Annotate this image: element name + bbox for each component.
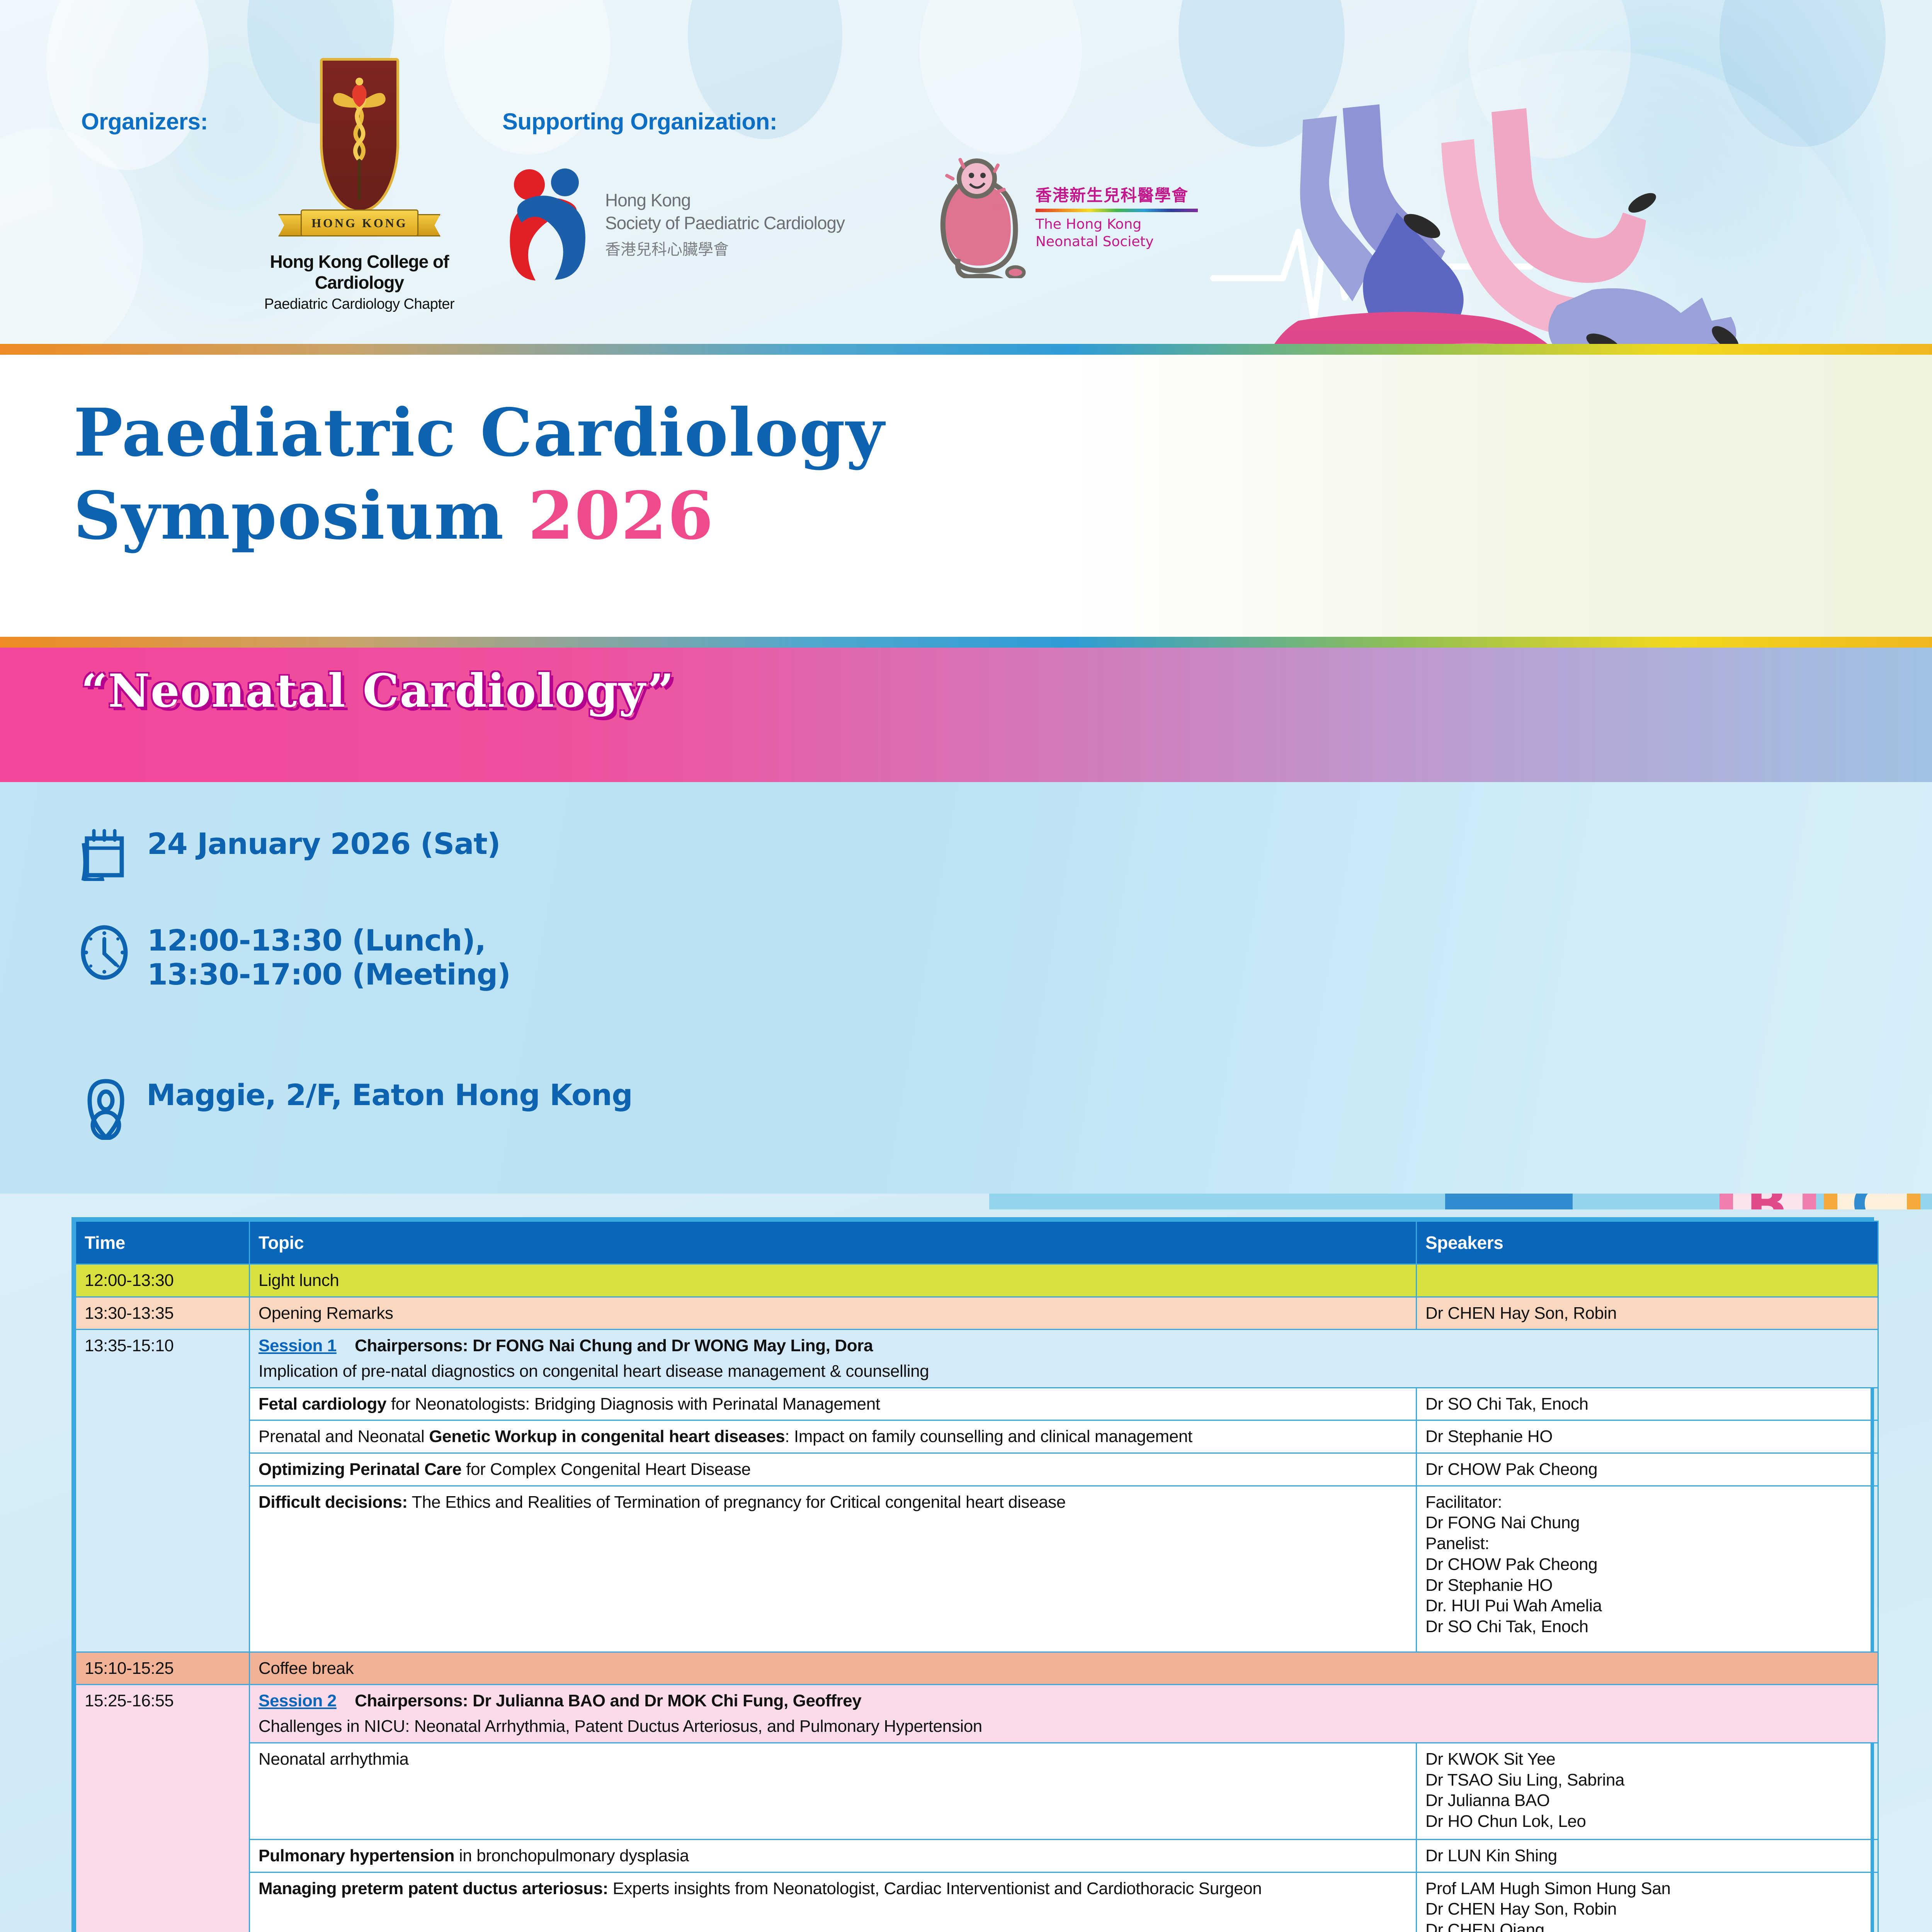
hkspc-line1: Hong Kong	[605, 189, 845, 212]
title-line-1: Paediatric Cardiology	[73, 400, 885, 466]
session2-banner: Session 2 Chairpersons: Dr Julianna BAO …	[250, 1685, 1878, 1743]
cell-speakers: Prof LAM Hugh Simon Hung San Dr CHEN Hay…	[1417, 1872, 1878, 1932]
programme-table: Time Topic Speakers 12:00-13:30 Light lu…	[71, 1217, 1874, 1932]
cell-speakers: Dr CHOW Pak Cheong	[1417, 1453, 1878, 1486]
event-time-line2: 13:30-17:00 (Meeting)	[147, 957, 510, 992]
session1-banner: Session 1 Chairpersons: Dr FONG Nai Chun…	[250, 1330, 1878, 1388]
cell-speakers	[1417, 1264, 1878, 1297]
cell-time: 12:00-13:30	[76, 1264, 250, 1297]
cell-speakers: Dr SO Chi Tak, Enoch	[1417, 1388, 1878, 1420]
hkcc-logo: HONG KONG Hong Kong College of Cardiolog…	[251, 58, 468, 313]
cell-speakers: Dr CHEN Hay Son, Robin	[1417, 1297, 1878, 1330]
event-venue: Maggie, 2/F, Eaton Hong Kong	[146, 1078, 633, 1112]
table-row: Optimizing Perinatal Care for Complex Co…	[76, 1453, 1878, 1486]
cell-topic: Opening Remarks	[250, 1297, 1417, 1330]
ribbon-text: HONG KONG	[301, 209, 418, 236]
session2-tag[interactable]: Session 2	[259, 1691, 337, 1710]
coffee-break-row: 15:10-15:25 Coffee break	[76, 1652, 1878, 1685]
table-row: 12:00-13:30 Light lunch	[76, 1264, 1878, 1297]
session2-theme: Challenges in NICU: Neonatal Arrhythmia,…	[259, 1716, 1869, 1737]
session1-chairs: Chairpersons: Dr FONG Nai Chung and Dr W…	[355, 1336, 873, 1355]
cell-speakers: Dr LUN Kin Shing	[1417, 1839, 1878, 1872]
subtitle: “Neonatal Cardiology”	[81, 664, 675, 718]
event-date: 24 January 2026 (Sat)	[147, 827, 500, 861]
event-venue-row: Maggie, 2/F, Eaton Hong Kong	[83, 1078, 633, 1140]
event-date-row: 24 January 2026 (Sat)	[79, 827, 500, 881]
cell-time: 15:25-16:55	[76, 1685, 250, 1932]
event-time-row: 12:00-13:30 (Lunch), 13:30-17:00 (Meetin…	[79, 923, 510, 992]
hkns-chinese: 香港新生兒科醫學會	[1036, 182, 1198, 206]
table-row: 13:30-13:35 Opening Remarks Dr CHEN Hay …	[76, 1297, 1878, 1330]
rainbow-band-top	[0, 344, 1932, 355]
organizers-label: Organizers:	[81, 108, 208, 135]
table-row: Pulmonary hypertension in bronchopulmona…	[76, 1839, 1878, 1872]
session1-theme: Implication of pre-natal diagnostics on …	[259, 1361, 1869, 1382]
table-row: Difficult decisions: The Ethics and Real…	[76, 1486, 1878, 1652]
cell-topic: Managing preterm patent ductus arteriosu…	[250, 1872, 1417, 1932]
cell-topic: Optimizing Perinatal Care for Complex Co…	[250, 1453, 1417, 1486]
baby-stethoscope-icon	[931, 155, 1028, 278]
title-line-2: Symposium 2026	[73, 483, 714, 549]
clock-icon	[79, 923, 129, 981]
session2-chairs: Chairpersons: Dr Julianna BAO and Dr MOK…	[355, 1691, 861, 1710]
cell-topic: Difficult decisions: The Ethics and Real…	[250, 1486, 1417, 1652]
table-header-row: Time Topic Speakers	[76, 1221, 1878, 1264]
cell-topic: Coffee break	[250, 1652, 1878, 1685]
cell-time: 13:35-15:10	[76, 1330, 250, 1652]
hkspc-chinese: 香港兒科心臟學會	[605, 237, 845, 259]
table-row: Managing preterm patent ductus arteriosu…	[76, 1872, 1878, 1932]
session1-header-row: 13:35-15:10 Session 1 Chairpersons: Dr F…	[76, 1330, 1878, 1388]
table-row: Prenatal and Neonatal Genetic Workup in …	[76, 1420, 1878, 1453]
hkns-line2: Neonatal Society	[1036, 233, 1198, 250]
title-year: 2026	[528, 477, 714, 554]
col-header-speakers: Speakers	[1417, 1221, 1878, 1264]
cell-topic: Fetal cardiology for Neonatologists: Bri…	[250, 1388, 1417, 1420]
cell-topic: Light lunch	[250, 1264, 1417, 1297]
table-row: Neonatal arrhythmia Dr KWOK Sit Yee Dr T…	[76, 1743, 1878, 1839]
hkcc-chapter: Paediatric Cardiology Chapter	[251, 296, 468, 313]
header-logos: Organizers: Supporting Organization: HON…	[0, 0, 1932, 340]
calendar-icon	[79, 827, 129, 881]
two-figures-heart-icon	[506, 166, 595, 282]
cell-time: 15:10-15:25	[76, 1652, 250, 1685]
caduceus-icon	[330, 76, 388, 204]
cell-topic: Neonatal arrhythmia	[250, 1743, 1417, 1839]
cell-time: 13:30-13:35	[76, 1297, 250, 1330]
col-header-time: Time	[76, 1221, 250, 1264]
cell-speakers: Facilitator: Dr FONG Nai Chung Panelist:…	[1417, 1486, 1878, 1652]
cell-speakers: Dr Stephanie HO	[1417, 1420, 1878, 1453]
location-pin-icon	[83, 1078, 129, 1140]
hkcc-name: Hong Kong College of Cardiology	[251, 251, 468, 293]
session1-tag[interactable]: Session 1	[259, 1336, 337, 1355]
hkspc-line2: Society of Paediatric Cardiology	[605, 212, 845, 235]
hkspc-logo: Hong Kong Society of Paediatric Cardiolo…	[506, 166, 845, 282]
cell-speakers: Dr KWOK Sit Yee Dr TSAO Siu Ling, Sabrin…	[1417, 1743, 1878, 1839]
rainbow-divider	[1036, 209, 1198, 212]
title-symposium: Symposium	[73, 477, 528, 554]
cell-topic: Pulmonary hypertension in bronchopulmona…	[250, 1839, 1417, 1872]
hkns-line1: The Hong Kong	[1036, 216, 1198, 233]
hong-kong-ribbon: HONG KONG	[278, 202, 440, 244]
event-time-line1: 12:00-13:30 (Lunch),	[147, 923, 510, 957]
session2-header-row: 15:25-16:55 Session 2 Chairpersons: Dr J…	[76, 1685, 1878, 1743]
cell-topic: Prenatal and Neonatal Genetic Workup in …	[250, 1420, 1417, 1453]
rainbow-band-mid	[0, 637, 1932, 648]
hkns-logo: 香港新生兒科醫學會 The Hong Kong Neonatal Society	[931, 155, 1198, 278]
supporting-organization-label: Supporting Organization:	[502, 108, 777, 135]
shield-icon	[320, 58, 399, 213]
table-row: Fetal cardiology for Neonatologists: Bri…	[76, 1388, 1878, 1420]
col-header-topic: Topic	[250, 1221, 1417, 1264]
